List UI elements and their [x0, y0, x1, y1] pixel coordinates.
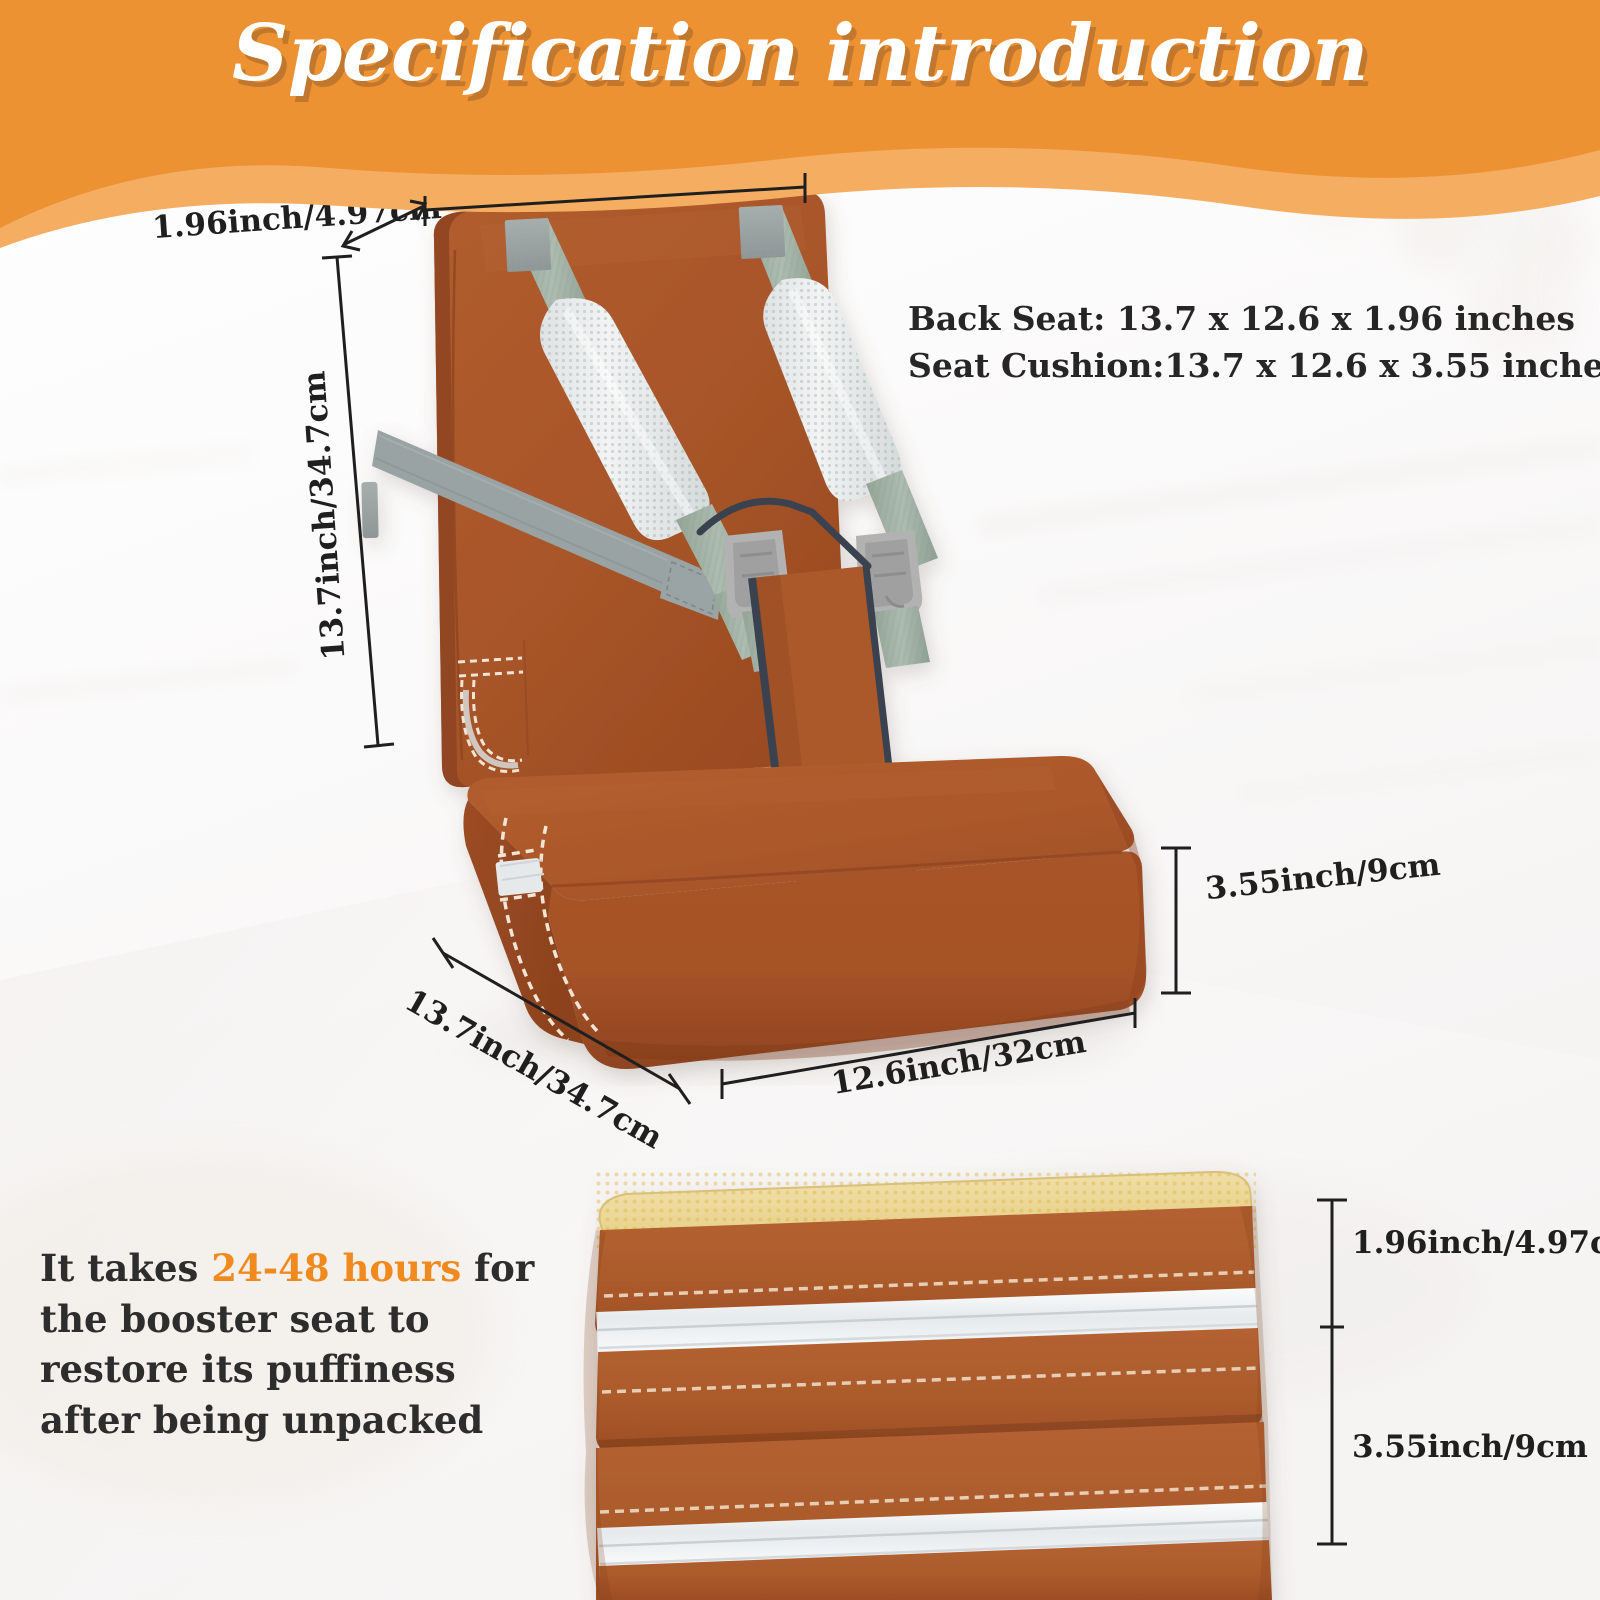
note-highlight: 24-48 hours	[211, 1246, 461, 1290]
velcro-tab-left	[361, 482, 378, 538]
note-part1: It takes	[40, 1246, 211, 1290]
backrest-stitch-patch	[452, 655, 523, 771]
spec-text-block: Back Seat: 13.7 x 12.6 x 1.96 inches Sea…	[908, 296, 1600, 390]
folded-cushion-stack	[584, 1170, 1272, 1600]
note-text-block: It takes 24-48 hours for the booster sea…	[40, 1243, 560, 1446]
page-title: Specification introduction	[0, 8, 1600, 99]
seat-cushion-block	[463, 756, 1146, 1069]
spec-seat-cushion: Seat Cushion:13.7 x 12.6 x 3.55 inches	[908, 343, 1600, 390]
spec-back-seat: Back Seat: 13.7 x 12.6 x 1.96 inches	[908, 296, 1600, 343]
